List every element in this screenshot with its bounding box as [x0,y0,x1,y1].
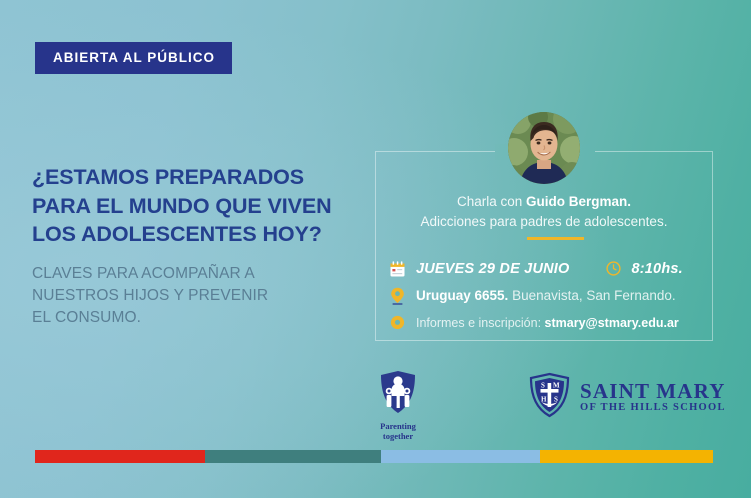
headline-line-3: LOS ADOLESCENTES HOY? [32,220,377,249]
speaker-intro: Charla con [457,194,526,209]
speaker-topic: Adicciones para padres de adolescentes. [375,212,713,232]
event-contact: Informes e inscripción: stmary@stmary.ed… [416,316,679,330]
parenting-caption-line-2: together [367,432,429,442]
page-title: ¿ESTAMOS PREPARADOS PARA EL MUNDO QUE VI… [32,163,377,249]
color-bar-segment-blue [381,450,540,463]
headline-line-1: ¿ESTAMOS PREPARADOS [32,163,377,192]
public-badge: ABIERTA AL PÚBLICO [35,42,232,74]
location-pin-icon [390,287,416,305]
event-details: JUEVES 29 DE JUNIO 8:10hs. [390,255,715,336]
svg-text:S: S [554,396,558,404]
parenting-together-logo: Parenting together [367,370,429,441]
detail-row-date: JUEVES 29 DE JUNIO 8:10hs. [390,255,715,282]
accent-divider [527,237,584,240]
detail-row-contact: Informes e inscripción: stmary@stmary.ed… [390,309,715,336]
avatar [508,112,580,184]
subheadline-line-2: NUESTROS HIJOS Y PREVENIR [32,285,377,307]
address-area: Buenavista, San Fernando. [512,288,676,303]
event-address: Uruguay 6655. Buenavista, San Fernando. [416,288,676,303]
color-bar [35,450,713,463]
event-time-group: 8:10hs. [606,261,683,277]
color-bar-segment-yellow [540,450,713,463]
left-text-column: ¿ESTAMOS PREPARADOS PARA EL MUNDO QUE VI… [32,163,377,329]
school-wordmark: SAINT MARY OF THE HILLS SCHOOL [580,380,726,415]
headline-line-2: PARA EL MUNDO QUE VIVEN [32,192,377,221]
subheadline-line-1: CLAVES PARA ACOMPAÑAR A [32,263,377,285]
detail-row-location: Uruguay 6655. Buenavista, San Fernando. [390,282,715,309]
color-bar-segment-teal [205,450,381,463]
page-subtitle: CLAVES PARA ACOMPAÑAR A NUESTROS HIJOS Y… [32,263,377,329]
event-date: JUEVES 29 DE JUNIO [416,261,570,277]
school-name: SAINT MARY [580,380,726,402]
saint-mary-logo: S M H S SAINT MARY OF THE HILLS SCHOOL [528,372,726,423]
contact-label: Informes e inscripción: [416,316,545,330]
speaker-block: Charla con Guido Bergman. Adicciones par… [375,192,713,231]
address-street: Uruguay 6655. [416,288,508,303]
svg-text:M: M [553,382,560,390]
contact-email[interactable]: stmary@stmary.edu.ar [545,316,679,330]
calendar-icon [390,261,416,277]
color-bar-segment-red [35,450,205,463]
subheadline-line-3: EL CONSUMO. [32,307,377,329]
school-subname: OF THE HILLS SCHOOL [580,402,726,415]
speaker-name: Guido Bergman. [526,194,631,209]
event-time: 8:10hs. [632,261,683,277]
parenting-logo-caption: Parenting together [367,422,429,441]
school-crest-icon: S M H S [528,372,571,423]
svg-text:S: S [541,382,545,390]
svg-text:H: H [541,396,547,404]
speaker-name-line: Charla con Guido Bergman. [375,192,713,212]
clock-icon [606,261,632,276]
info-circle-icon [390,315,416,330]
event-poster: ABIERTA AL PÚBLICO ¿ESTAMOS PREPARADOS P… [0,0,751,498]
